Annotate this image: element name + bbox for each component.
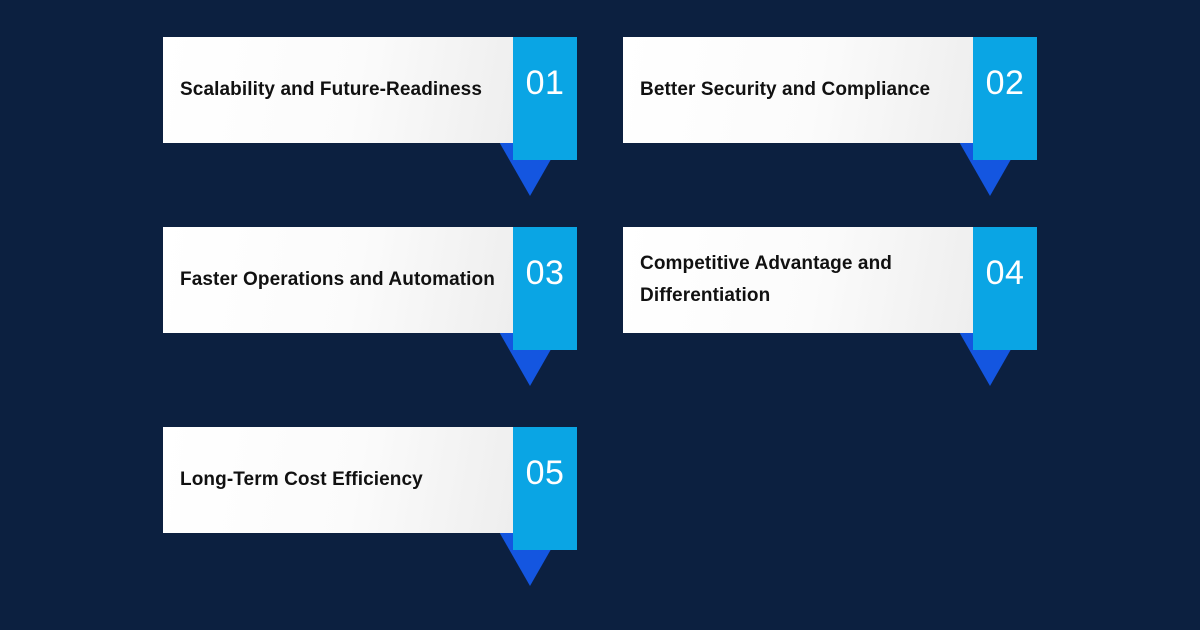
benefit-item-04[interactable]: Competitive Advantage and Differentiatio… bbox=[623, 227, 1037, 333]
benefit-item-01[interactable]: Scalability and Future-Readiness 01 bbox=[163, 37, 577, 143]
benefit-number: 03 bbox=[526, 256, 565, 290]
benefit-number-badge: 03 bbox=[513, 227, 577, 350]
benefit-label: Faster Operations and Automation bbox=[180, 264, 495, 296]
benefit-item-03[interactable]: Faster Operations and Automation 03 bbox=[163, 227, 577, 333]
benefit-label: Scalability and Future-Readiness bbox=[180, 74, 482, 106]
benefit-number-badge: 01 bbox=[513, 37, 577, 160]
benefit-number: 02 bbox=[986, 66, 1025, 100]
benefit-item-02[interactable]: Better Security and Compliance 02 bbox=[623, 37, 1037, 143]
benefit-number-badge: 04 bbox=[973, 227, 1037, 350]
benefit-card[interactable]: Long-Term Cost Efficiency bbox=[163, 427, 513, 533]
benefit-label: Long-Term Cost Efficiency bbox=[180, 464, 423, 496]
benefit-number-badge: 02 bbox=[973, 37, 1037, 160]
benefit-item-05[interactable]: Long-Term Cost Efficiency 05 bbox=[163, 427, 577, 533]
benefit-number: 05 bbox=[526, 456, 565, 490]
benefit-label: Better Security and Compliance bbox=[640, 74, 930, 106]
benefit-card[interactable]: Competitive Advantage and Differentiatio… bbox=[623, 227, 973, 333]
infographic-canvas: Scalability and Future-Readiness 01 Bett… bbox=[0, 0, 1200, 630]
benefit-number: 04 bbox=[986, 256, 1025, 290]
benefit-number: 01 bbox=[526, 66, 565, 100]
benefit-card[interactable]: Faster Operations and Automation bbox=[163, 227, 513, 333]
benefit-card[interactable]: Better Security and Compliance bbox=[623, 37, 973, 143]
benefit-card[interactable]: Scalability and Future-Readiness bbox=[163, 37, 513, 143]
benefit-number-badge: 05 bbox=[513, 427, 577, 550]
benefit-label: Competitive Advantage and Differentiatio… bbox=[640, 248, 959, 312]
